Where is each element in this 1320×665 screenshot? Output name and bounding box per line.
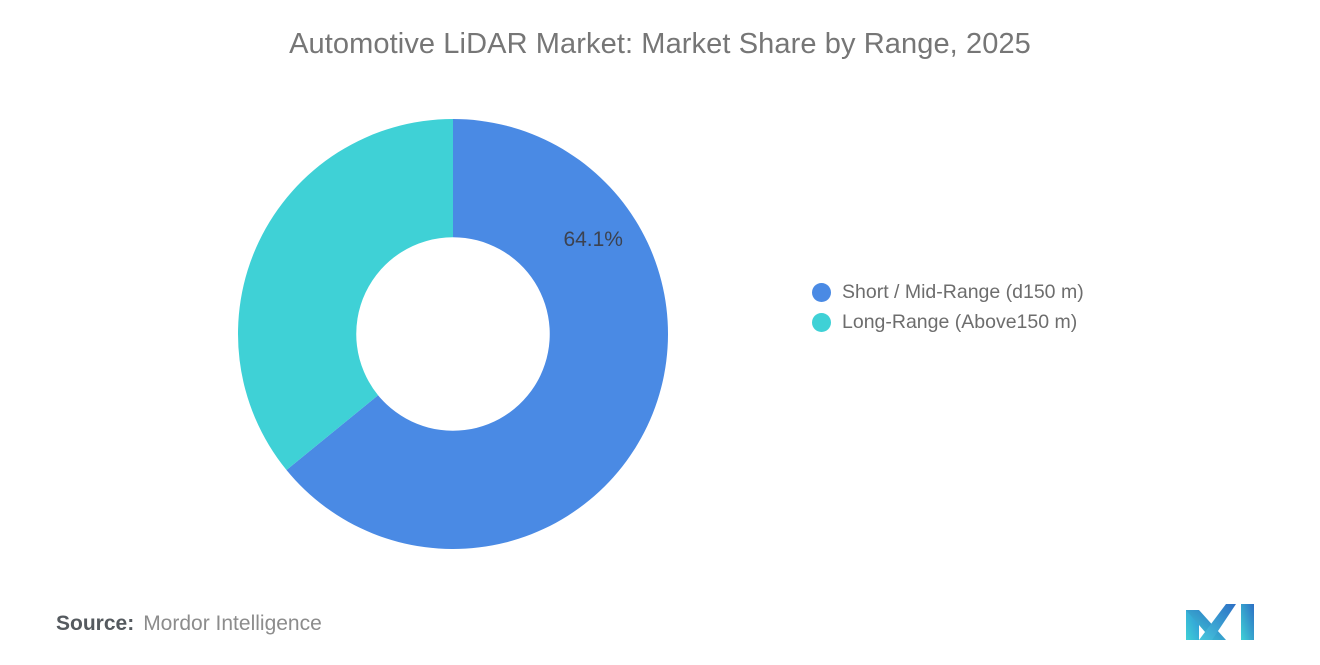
chart-legend: Short / Mid-Range (d150 m) Long-Range (A… <box>812 283 1084 332</box>
pie-slice-long-range[interactable] <box>238 119 453 470</box>
page-title: Automotive LiDAR Market: Market Share by… <box>0 28 1320 61</box>
donut-chart-svg <box>238 118 668 550</box>
legend-item-label: Short / Mid-Range (d150 m) <box>842 283 1084 303</box>
logo-svg <box>1186 598 1256 642</box>
legend-item-long-range[interactable]: Long-Range (Above150 m) <box>812 313 1084 333</box>
donut-chart: 64.1% <box>238 118 668 550</box>
source-label: Source: <box>56 612 134 636</box>
legend-item-short-mid-range[interactable]: Short / Mid-Range (d150 m) <box>812 283 1084 303</box>
donut-slices <box>238 119 668 549</box>
source-attribution: Source: Mordor Intelligence <box>56 612 322 636</box>
legend-swatch-icon <box>812 313 831 332</box>
mordor-intelligence-logo-icon <box>1186 598 1256 642</box>
legend-swatch-icon <box>812 283 831 302</box>
legend-item-label: Long-Range (Above150 m) <box>842 313 1077 333</box>
source-value: Mordor Intelligence <box>143 612 322 636</box>
